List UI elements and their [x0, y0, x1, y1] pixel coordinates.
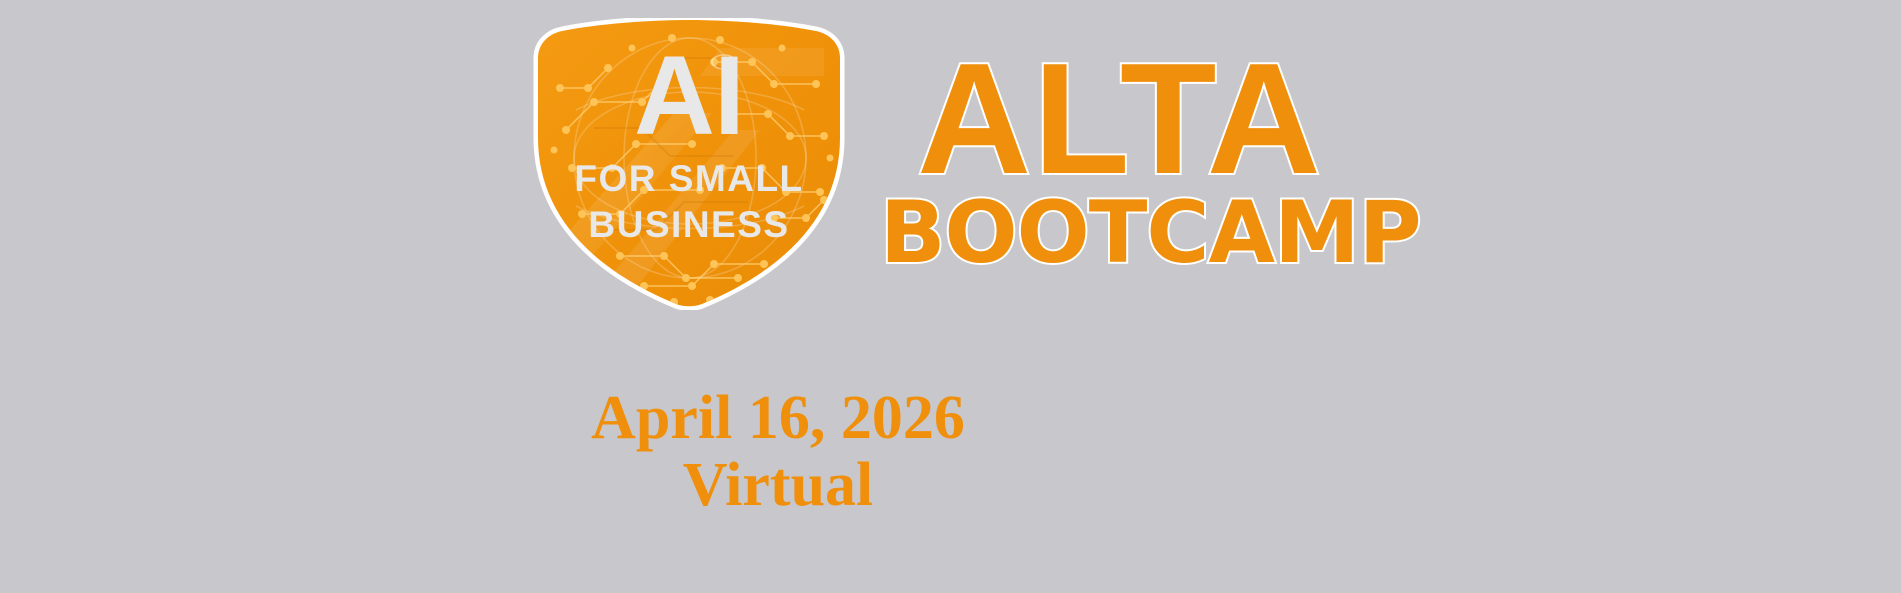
event-format: Virtual	[478, 452, 1078, 519]
ai-for-small-business-logo: AI FOR SMALL BUSINESS	[524, 18, 854, 310]
shield-icon	[524, 18, 854, 310]
wordmark-primary: ALTA	[880, 40, 1360, 198]
alta-bootcamp-wordmark: ALTA BOOTCAMP	[880, 40, 1360, 280]
event-date: April 16, 2026	[478, 385, 1078, 452]
wordmark-secondary: BOOTCAMP	[880, 190, 1360, 276]
event-details: April 16, 2026 Virtual	[478, 385, 1078, 519]
event-banner: AI FOR SMALL BUSINESS ALTA BOOTCAMP Apri…	[0, 0, 1901, 593]
